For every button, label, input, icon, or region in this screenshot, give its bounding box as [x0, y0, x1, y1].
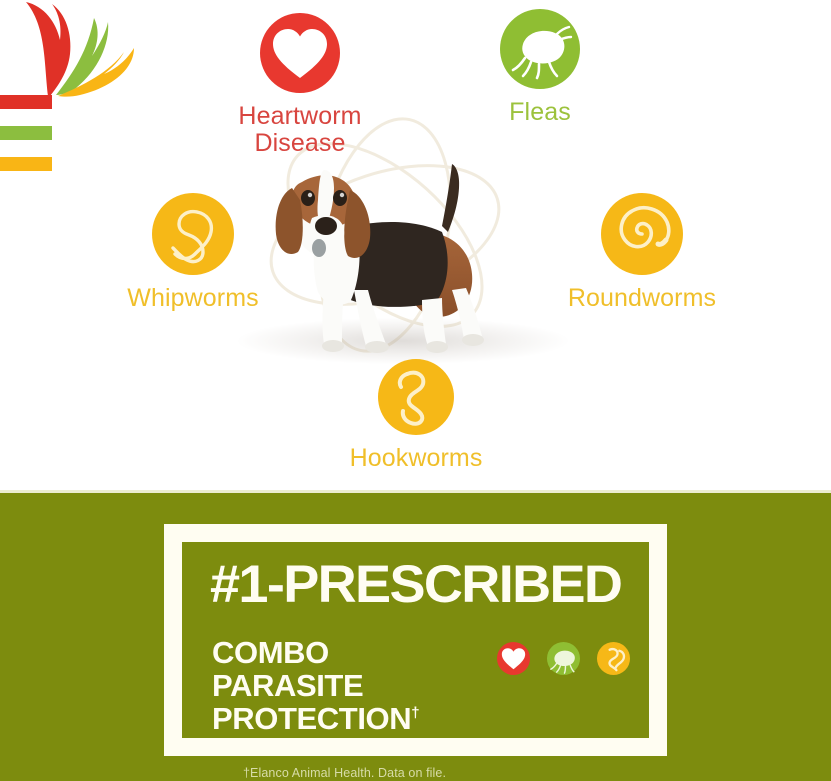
banner-footnote: †Elanco Animal Health. Data on file.	[243, 766, 446, 780]
prescribed-badge: #1-PRESCRIBED COMBO PARASITE PROTECTION†	[164, 524, 667, 756]
parasite-node-whipworms[interactable]: Whipworms	[107, 192, 279, 312]
banner-top-divider	[0, 490, 831, 493]
badge-mini-icon-group	[496, 641, 631, 676]
hookworm-icon	[377, 358, 455, 436]
promo-graphic: Heartworm Disease Fleas Whipworms	[0, 0, 831, 781]
parasite-label: Heartworm Disease	[238, 103, 361, 157]
badge-subhead: COMBO PARASITE PROTECTION†	[212, 636, 470, 735]
worm-icon	[596, 641, 631, 676]
beagle-puppy-image	[246, 140, 536, 360]
flea-icon	[499, 8, 581, 90]
parasite-node-hookworms[interactable]: Hookworms	[330, 358, 502, 472]
parasite-label: Fleas	[509, 99, 571, 126]
brand-logo[interactable]	[0, 0, 160, 180]
roundworm-spiral-icon	[600, 192, 684, 276]
parasite-node-roundworms[interactable]: Roundworms	[556, 192, 728, 312]
badge-subhead-text: COMBO PARASITE PROTECTION	[212, 635, 411, 736]
parasite-node-heartworm[interactable]: Heartworm Disease	[216, 12, 384, 157]
hero-section: Heartworm Disease Fleas Whipworms	[0, 0, 831, 490]
badge-subhead-superscript: †	[411, 705, 419, 722]
flea-icon	[546, 641, 581, 676]
whipworm-icon	[151, 192, 235, 276]
badge-headline: #1-PRESCRIBED	[210, 558, 621, 611]
parasite-label: Roundworms	[568, 285, 716, 312]
parasite-node-fleas[interactable]: Fleas	[456, 8, 624, 126]
heart-icon	[259, 12, 341, 94]
badge-inner-frame: #1-PRESCRIBED COMBO PARASITE PROTECTION†	[178, 538, 653, 742]
heart-icon	[496, 641, 531, 676]
swoosh-logo-icon	[0, 0, 160, 180]
parasite-label: Hookworms	[350, 445, 483, 472]
parasite-label: Whipworms	[127, 285, 258, 312]
